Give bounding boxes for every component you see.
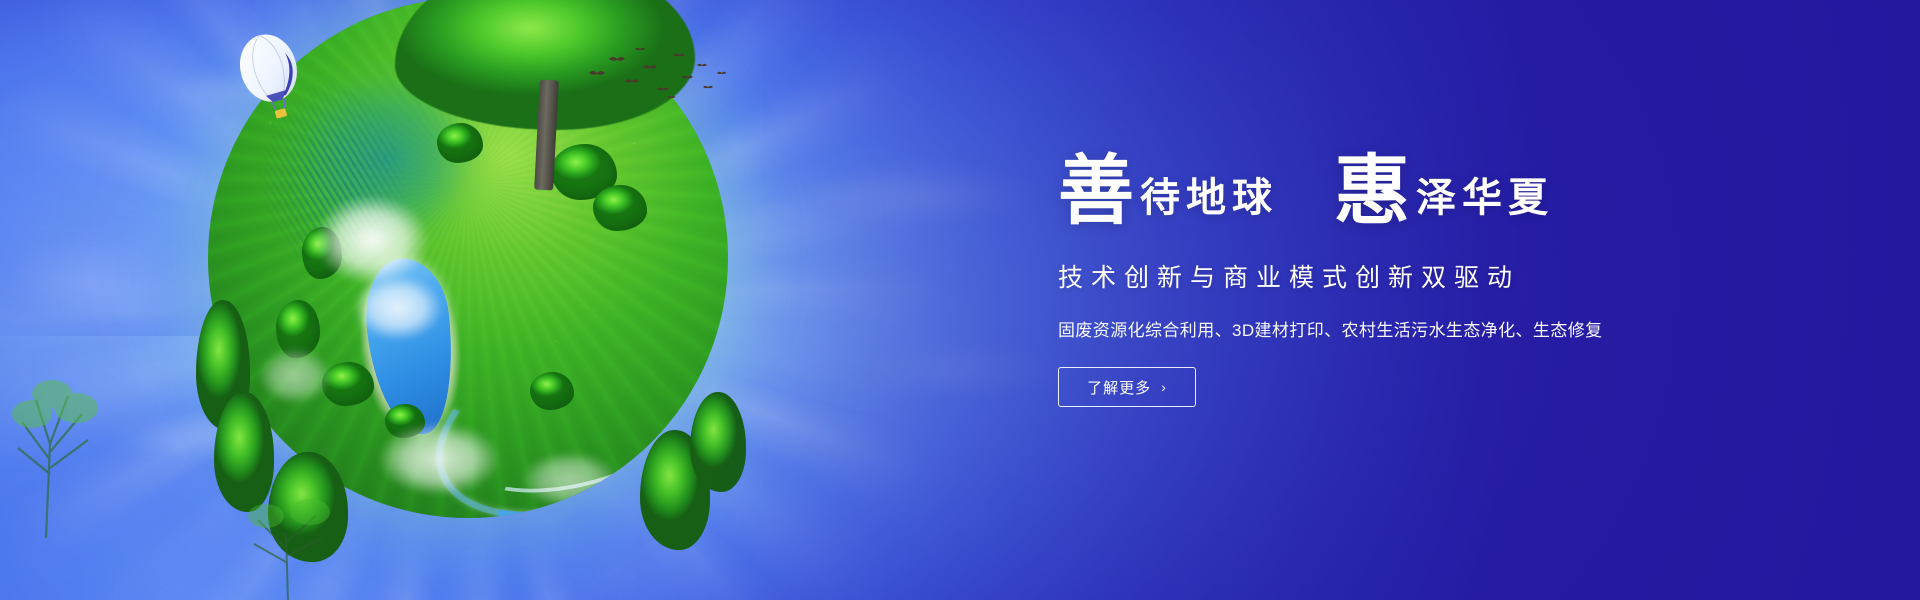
hero-banner: 善 待地球 惠 泽华夏 技术创新与商业模式创新双驱动 固废资源化综合利用、3D建… — [0, 0, 1920, 600]
description: 固废资源化综合利用、3D建材打印、农村生活污水生态净化、生态修复 — [1058, 316, 1818, 341]
headline-part2-emphasis: 惠 — [1334, 154, 1410, 230]
chevron-right-icon: › — [1161, 380, 1167, 394]
learn-more-label: 了解更多 — [1087, 377, 1151, 398]
headline-part1-emphasis: 善 — [1058, 154, 1134, 230]
headline-part2-rest: 泽华夏 — [1416, 178, 1554, 218]
headline: 善 待地球 惠 泽华夏 — [1058, 140, 1818, 236]
subtitle: 技术创新与商业模式创新双驱动 — [1058, 258, 1818, 294]
learn-more-button[interactable]: 了解更多 › — [1058, 367, 1196, 407]
banner-copy: 善 待地球 惠 泽华夏 技术创新与商业模式创新双驱动 固废资源化综合利用、3D建… — [1058, 140, 1818, 407]
headline-part1-rest: 待地球 — [1140, 178, 1278, 218]
